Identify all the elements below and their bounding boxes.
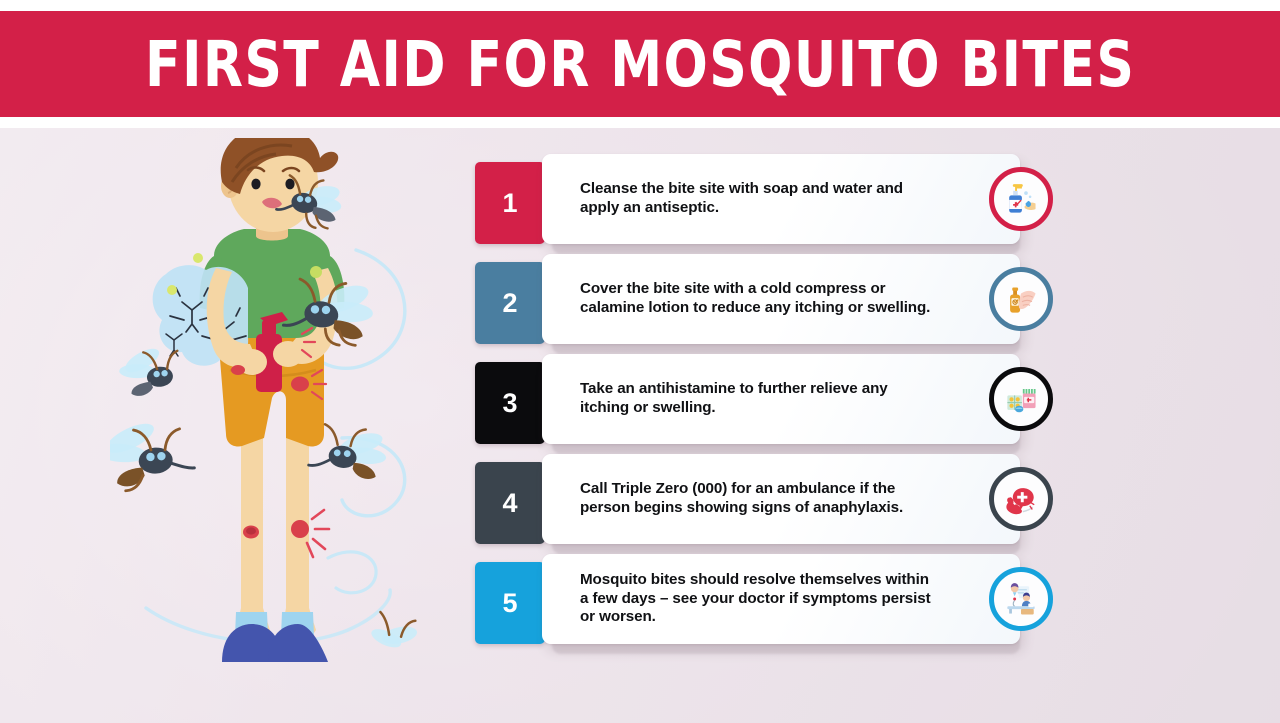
step-row-3[interactable]: 3 Take an antihistamine to further relie…	[475, 354, 1060, 454]
step-row-5[interactable]: 5 Mosquito bites should resolve themselv…	[475, 554, 1060, 654]
lotion-bottle-hand-icon	[989, 267, 1053, 331]
header-banner: FIRST AID FOR MOSQUITO BITES	[0, 11, 1280, 117]
step-card-4[interactable]: Call Triple Zero (000) for an ambulance …	[542, 454, 1020, 544]
step-text-5: Mosquito bites should resolve themselves…	[542, 571, 1020, 627]
page-title: FIRST AID FOR MOSQUITO BITES	[145, 33, 1135, 96]
step-number-3: 3	[502, 388, 517, 419]
step-number-badge-4: 4	[475, 462, 545, 544]
content-area: 1 Cleanse the bite site with soap and wa…	[0, 128, 1280, 723]
emergency-phone-call-icon	[989, 467, 1053, 531]
step-card-1[interactable]: Cleanse the bite site with soap and wate…	[542, 154, 1020, 244]
step-number-2: 2	[502, 288, 517, 319]
soap-dispenser-hand-icon	[989, 167, 1053, 231]
header-area: FIRST AID FOR MOSQUITO BITES	[0, 0, 1280, 128]
boy-with-insect-spray-illustration	[110, 138, 440, 708]
step-number-4: 4	[502, 488, 517, 519]
steps-list: 1 Cleanse the bite site with soap and wa…	[475, 154, 1060, 654]
step-card-2[interactable]: Cover the bite site with a cold compress…	[542, 254, 1020, 344]
step-text-1: Cleanse the bite site with soap and wate…	[542, 180, 1020, 217]
medicine-pills-box-icon	[989, 367, 1053, 431]
step-number-badge-2: 2	[475, 262, 545, 344]
step-row-1[interactable]: 1 Cleanse the bite site with soap and wa…	[475, 154, 1060, 254]
step-text-4: Call Triple Zero (000) for an ambulance …	[542, 480, 1020, 517]
step-card-5[interactable]: Mosquito bites should resolve themselves…	[542, 554, 1020, 644]
step-number-1: 1	[502, 188, 517, 219]
step-row-2[interactable]: 2 Cover the bite site with a cold compre…	[475, 254, 1060, 354]
step-number-badge-3: 3	[475, 362, 545, 444]
step-text-3: Take an antihistamine to further relieve…	[542, 380, 1020, 417]
step-number-5: 5	[502, 588, 517, 619]
doctor-consultation-icon	[989, 567, 1053, 631]
step-text-2: Cover the bite site with a cold compress…	[542, 280, 1020, 317]
step-number-badge-5: 5	[475, 562, 545, 644]
step-number-badge-1: 1	[475, 162, 545, 244]
step-card-3[interactable]: Take an antihistamine to further relieve…	[542, 354, 1020, 444]
infographic-page: FIRST AID FOR MOSQUITO BITES	[0, 0, 1280, 723]
step-row-4[interactable]: 4 Call Triple Zero (000) for an ambulanc…	[475, 454, 1060, 554]
